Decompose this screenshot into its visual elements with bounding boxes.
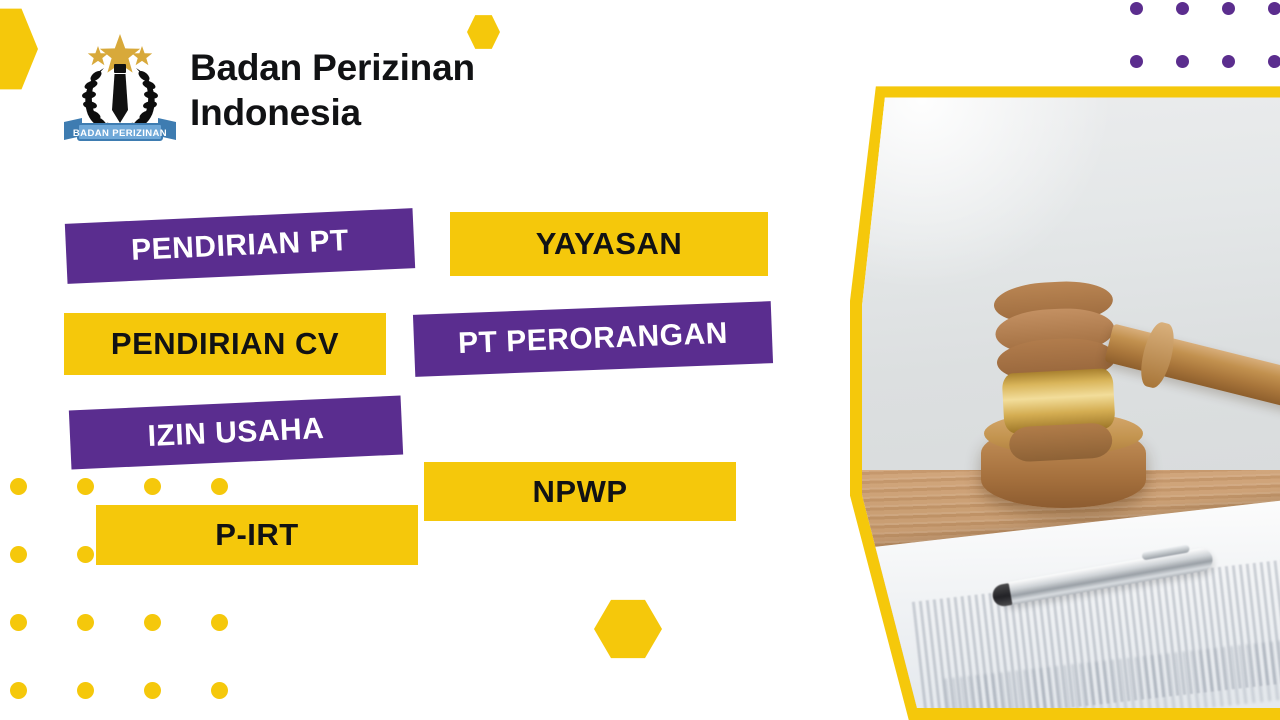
dot-yellow — [10, 614, 27, 631]
photo-clip — [862, 72, 1280, 708]
dot-yellow — [144, 682, 161, 699]
badge-pt-perorangan[interactable]: PT PERORANGAN — [413, 301, 773, 377]
dot-yellow — [77, 682, 94, 699]
badge-pendirian-cv[interactable]: PENDIRIAN CV — [64, 313, 386, 375]
dot-yellow — [77, 546, 94, 563]
gavel-on-desk-photo — [850, 60, 1280, 720]
dot-yellow — [211, 682, 228, 699]
dot-purple — [1130, 2, 1143, 15]
dot-yellow — [144, 614, 161, 631]
crest-necktie-icon — [112, 64, 128, 123]
badge-pirt[interactable]: P-IRT — [96, 505, 418, 565]
badge-yayasan[interactable]: YAYASAN — [450, 212, 768, 276]
dot-yellow — [10, 682, 27, 699]
dot-yellow — [144, 478, 161, 495]
dot-yellow — [77, 614, 94, 631]
photo-content — [862, 72, 1280, 708]
dot-purple — [1176, 2, 1189, 15]
dot-yellow — [10, 546, 27, 563]
photo-wall-highlight — [862, 72, 1114, 291]
page-title: Badan Perizinan Indonesia — [190, 45, 610, 135]
hex-bottom-center-icon — [594, 598, 662, 660]
dot-purple — [1222, 2, 1235, 15]
dot-yellow — [10, 478, 27, 495]
banner-canvas: BADAN PERIZINAN Badan Perizinan Indonesi… — [0, 0, 1280, 720]
crest-ribbon-label: BADAN PERIZINAN — [73, 128, 167, 139]
gavel-head — [993, 279, 1120, 444]
dot-purple — [1268, 2, 1280, 15]
page-title-line-1: Badan Perizinan — [190, 45, 610, 90]
dot-yellow — [77, 478, 94, 495]
badan-perizinan-crest-icon: BADAN PERIZINAN — [60, 26, 180, 146]
badge-izin-usaha[interactable]: IZIN USAHA — [69, 396, 403, 470]
badge-npwp[interactable]: NPWP — [424, 462, 736, 521]
dot-yellow — [211, 614, 228, 631]
badge-pendirian-pt[interactable]: PENDIRIAN PT — [65, 208, 415, 284]
dot-yellow — [211, 478, 228, 495]
page-title-line-2: Indonesia — [190, 90, 610, 135]
gavel-head-foot — [1009, 422, 1113, 462]
hex-top-left-partial-icon — [0, 6, 38, 92]
